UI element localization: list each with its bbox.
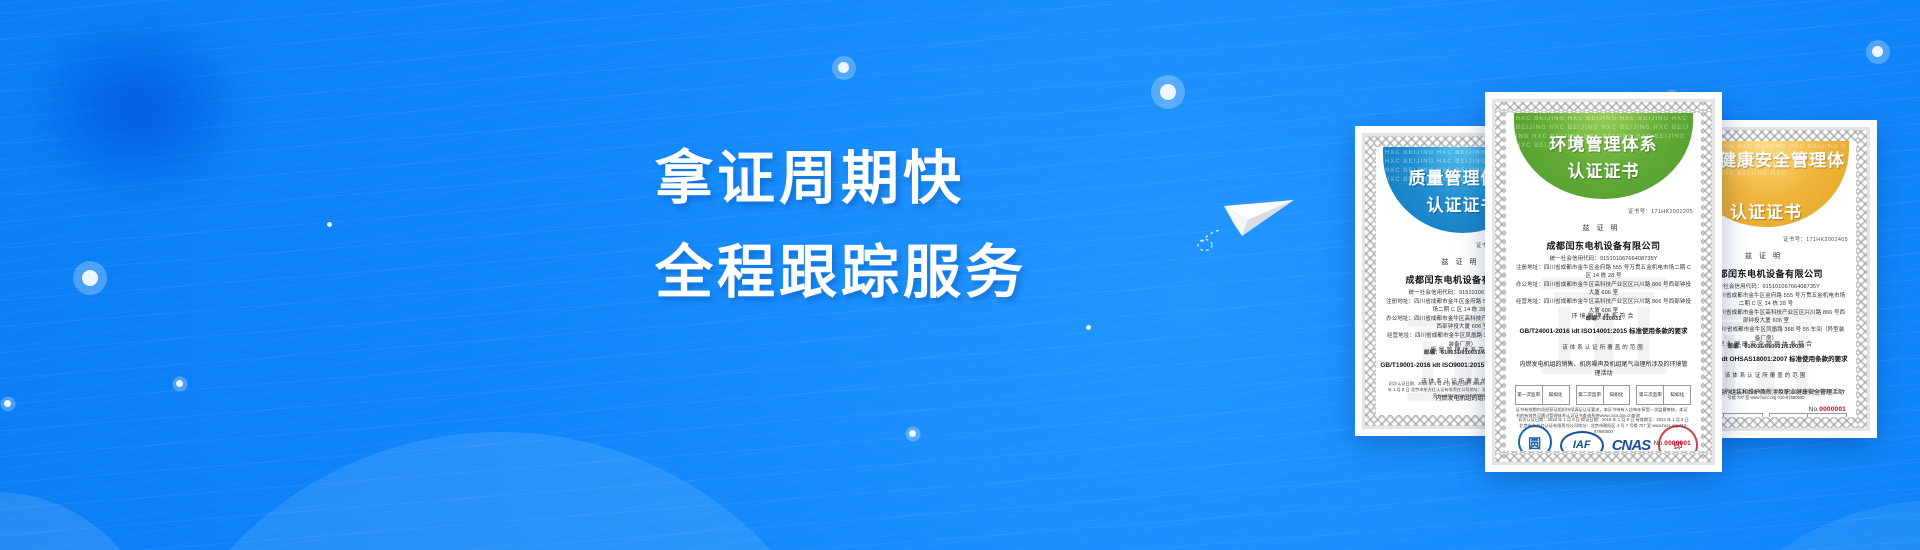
audit-cell: 第二次监审 — [1576, 385, 1604, 405]
audit-cell: 第三次监审 — [1636, 385, 1664, 405]
headline-line-1: 拿证周期快 — [655, 138, 1055, 218]
audit-cell: 第三次监审 — [1769, 413, 1809, 417]
certificate-number: No.0000001 — [1654, 440, 1691, 447]
audit-cell: 知如化 — [1807, 413, 1847, 417]
audit-cell: 知如化 — [1723, 413, 1763, 417]
certificate-title-line-2: 认证证书 — [1567, 157, 1639, 182]
certificate-footer: 初次认证日期：2018 年 1 月 8 日 换证日期：2018 年 1 月 8 … — [1518, 417, 1690, 435]
glow-dot-4 — [838, 62, 849, 73]
glow-dot-5 — [1160, 84, 1176, 100]
audit-cell: 知如化 — [1663, 385, 1691, 405]
hero-banner: 拿证周期快 全程跟踪服务 HXC BEIJING HXC BEIJING HXC… — [0, 0, 1920, 550]
paper-plane-icon — [1196, 176, 1306, 256]
system-label: 环境管理体系符合 — [1506, 311, 1701, 320]
certificate-attest-label: 兹证明 — [1506, 223, 1701, 233]
glow-dot-2 — [327, 222, 332, 227]
cnas-logo: CNAS — [1612, 437, 1651, 452]
credit-code: 统一社会信用代码：91510106766408735Y — [1516, 255, 1692, 264]
certificate-border: HXC BEIJING HXC BEIJING HXC BEIJING HXC … — [1492, 99, 1715, 465]
certificate-body: HXC BEIJING HXC BEIJING HXC BEIJING HXC … — [1506, 113, 1701, 451]
glow-dot-9 — [1086, 325, 1091, 330]
certificate-number: No.0000001 — [1809, 406, 1846, 413]
glow-dot-10 — [4, 400, 11, 407]
dark-glow-blob — [36, 16, 246, 201]
glow-dot-1 — [82, 270, 98, 286]
certificate-group: HXC BEIJING HXC BEIJING HXC BEIJING HXC … — [1355, 92, 1900, 472]
header-watermark-text: HXC BEIJING HXC BEIJING HXC BEIJING HXC … — [1514, 113, 1693, 199]
standard-text: GB/T24001-2016 idt ISO14001:2015 标准使用条款的… — [1506, 325, 1701, 335]
audit-cell: 知如化 — [1542, 385, 1570, 405]
certificate-card-environment[interactable]: HXC BEIJING HXC BEIJING HXC BEIJING HXC … — [1485, 92, 1722, 472]
certificate-title-line-2: 认证证书 — [1730, 198, 1802, 223]
certificate-serial: 证书号：171HK2002405 — [1783, 235, 1848, 243]
certificate-company-name: 成都闰东电机设备有限公司 — [1506, 239, 1701, 252]
audit-cell: 第一次监审 — [1515, 385, 1543, 405]
audit-table: 第一次监审 知如化 第二次监审 知如化 第三次监审 知如化 — [1516, 385, 1692, 405]
headline-line-2: 全程跟踪服务 — [655, 232, 1055, 312]
glow-dot-7 — [1872, 46, 1883, 57]
certificate-serial: 证书号：171HK2002205 — [1628, 207, 1693, 215]
glow-dot-3 — [176, 380, 183, 387]
certificate-header-arc: HXC BEIJING HXC BEIJING HXC BEIJING HXC … — [1514, 113, 1693, 199]
certificate-title-line-1: 环境管理体系 — [1549, 130, 1657, 155]
scope-text: 内燃发电机组的销售、机房噪声及机组尾气治理所涉及的环境管理活动 — [1518, 361, 1690, 379]
address-registered: 注册地址：四川省成都市金牛区金府路 555 号万贯五金机电市场二期 C 区 14… — [1516, 264, 1692, 281]
hero-headline: 拿证周期快 全程跟踪服务 — [655, 138, 1055, 312]
audit-cell: 知如化 — [1603, 385, 1631, 405]
address-office: 办公地址：四川省成都市金牛区高科技产业区区兴川路 866 号西部钟投大厦 606… — [1516, 281, 1692, 298]
glow-dot-6 — [909, 430, 916, 437]
scope-label: 该体系认证所覆盖的范围 — [1506, 343, 1701, 351]
